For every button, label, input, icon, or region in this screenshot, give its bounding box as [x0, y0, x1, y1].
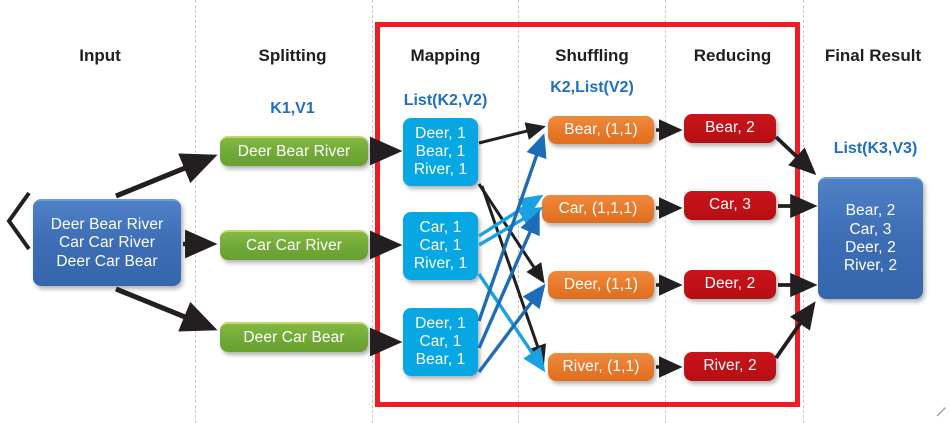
map-box-3: Deer, 1 Car, 1 Bear, 1: [403, 308, 478, 376]
shuffle-box-car-label: Car, (1,1,1): [559, 200, 638, 218]
map-box-3-line-3: Bear, 1: [416, 351, 466, 369]
stage-title-input: Input: [35, 46, 165, 66]
stage-sub-mapping: List(K2,V2): [378, 92, 513, 110]
reduce-box-car-label: Car, 3: [709, 196, 751, 214]
split-box-3: Deer Car Bear: [220, 322, 368, 352]
shuffle-box-river-label: River, (1,1): [563, 358, 640, 376]
map-box-3-line-2: Car, 1: [420, 333, 462, 351]
input-line-2: Car Car River: [59, 234, 155, 252]
split-box-1-label: Deer Bear River: [238, 143, 351, 161]
reduce-box-bear-label: Bear, 2: [705, 119, 755, 137]
final-result-line-4: River, 2: [844, 257, 897, 275]
reduce-box-deer: Deer, 2: [684, 270, 776, 299]
map-box-2-line-1: Car, 1: [420, 219, 462, 237]
reduce-box-river: River, 2: [684, 352, 776, 381]
split-box-3-label: Deer Car Bear: [243, 329, 344, 347]
input-line-3: Deer Car Bear: [56, 253, 157, 271]
map-box-2-line-3: River, 1: [414, 255, 467, 273]
split-box-1: Deer Bear River: [220, 136, 368, 166]
stage-sub-splitting: K1,V1: [225, 100, 360, 118]
map-box-2-line-2: Car, 1: [420, 237, 462, 255]
map-box-1: Deer, 1 Bear, 1 River, 1: [403, 118, 478, 186]
reduce-box-car: Car, 3: [684, 191, 776, 220]
corner-speck-artifact: [936, 407, 946, 417]
stage-title-mapping: Mapping: [378, 46, 513, 66]
shuffle-box-bear-label: Bear, (1,1): [564, 121, 637, 139]
stage-title-final-result: Final Result: [803, 46, 943, 66]
stage-title-splitting: Splitting: [225, 46, 360, 66]
map-box-1-line-2: Bear, 1: [416, 143, 466, 161]
split-box-2: Car Car River: [220, 230, 368, 260]
mapreduce-diagram: Input Splitting K1,V1 Mapping List(K2,V2…: [0, 0, 950, 423]
reduce-box-bear: Bear, 2: [684, 114, 776, 143]
shuffle-box-car: Car, (1,1,1): [542, 195, 654, 223]
shuffle-box-bear: Bear, (1,1): [548, 116, 654, 144]
stage-title-shuffling: Shuffling: [522, 46, 662, 66]
column-separator-splitting-mapping: [372, 0, 373, 423]
reduce-box-deer-label: Deer, 2: [705, 275, 756, 293]
input-box: Deer Bear River Car Car River Deer Car B…: [33, 199, 181, 286]
stage-sub-shuffling: K2,List(V2): [522, 79, 662, 97]
final-result-box: Bear, 2 Car, 3 Deer, 2 River, 2: [818, 177, 923, 299]
final-result-line-2: Car, 3: [850, 221, 892, 239]
column-separator-input-splitting: [195, 0, 196, 423]
final-result-line-1: Bear, 2: [846, 202, 896, 220]
shuffle-box-deer-label: Deer, (1,1): [564, 276, 638, 294]
map-box-3-line-1: Deer, 1: [415, 315, 466, 333]
shuffle-box-river: River, (1,1): [548, 353, 654, 381]
shuffle-box-deer: Deer, (1,1): [548, 271, 654, 299]
reduce-box-river-label: River, 2: [703, 357, 756, 375]
stage-title-reducing: Reducing: [665, 46, 800, 66]
angle-left-icon: [5, 190, 31, 252]
final-result-line-3: Deer, 2: [845, 239, 896, 257]
map-box-1-line-1: Deer, 1: [415, 125, 466, 143]
map-box-2: Car, 1 Car, 1 River, 1: [403, 212, 478, 280]
input-line-1: Deer Bear River: [51, 216, 164, 234]
stage-sub-final-result: List(K3,V3): [808, 140, 943, 158]
map-box-1-line-3: River, 1: [414, 161, 467, 179]
split-box-2-label: Car Car River: [246, 237, 342, 255]
